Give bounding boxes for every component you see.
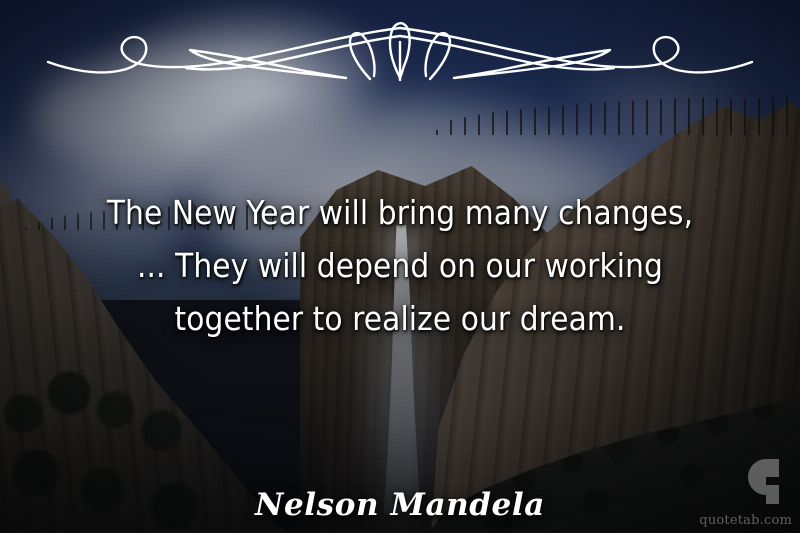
- quote-card: The New Year will bring many changes, ..…: [0, 0, 800, 533]
- watermark[interactable]: quotetab.com: [702, 457, 794, 529]
- flourish-ornament-icon: [0, 8, 800, 86]
- watermark-site-text[interactable]: quotetab.com: [699, 513, 792, 528]
- quote-text: The New Year will bring many changes, ..…: [34, 186, 766, 345]
- quote-author: Nelson Mandela: [0, 487, 800, 523]
- quotetab-logo-icon[interactable]: [732, 457, 788, 507]
- card-content: The New Year will bring many changes, ..…: [0, 0, 800, 533]
